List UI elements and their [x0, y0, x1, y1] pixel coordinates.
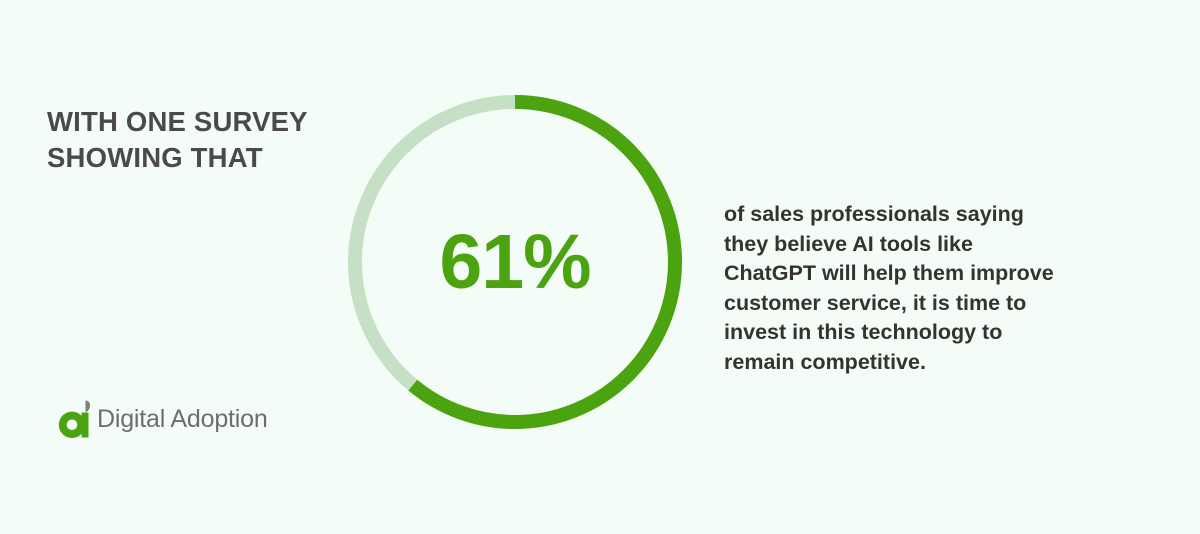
digital-adoption-a-mark-icon: [57, 399, 95, 439]
donut-chart: 61%: [348, 95, 682, 429]
donut-center-value: 61%: [348, 95, 682, 429]
brand-wordmark: Digital Adoption: [97, 407, 268, 432]
brand-logo: Digital Adoption: [57, 398, 268, 440]
infographic-canvas: WITH ONE SURVEY SHOWING THAT 61% of sale…: [0, 0, 1200, 534]
body-text: of sales professionals saying they belie…: [724, 200, 1149, 377]
page-title: WITH ONE SURVEY SHOWING THAT: [47, 104, 377, 176]
